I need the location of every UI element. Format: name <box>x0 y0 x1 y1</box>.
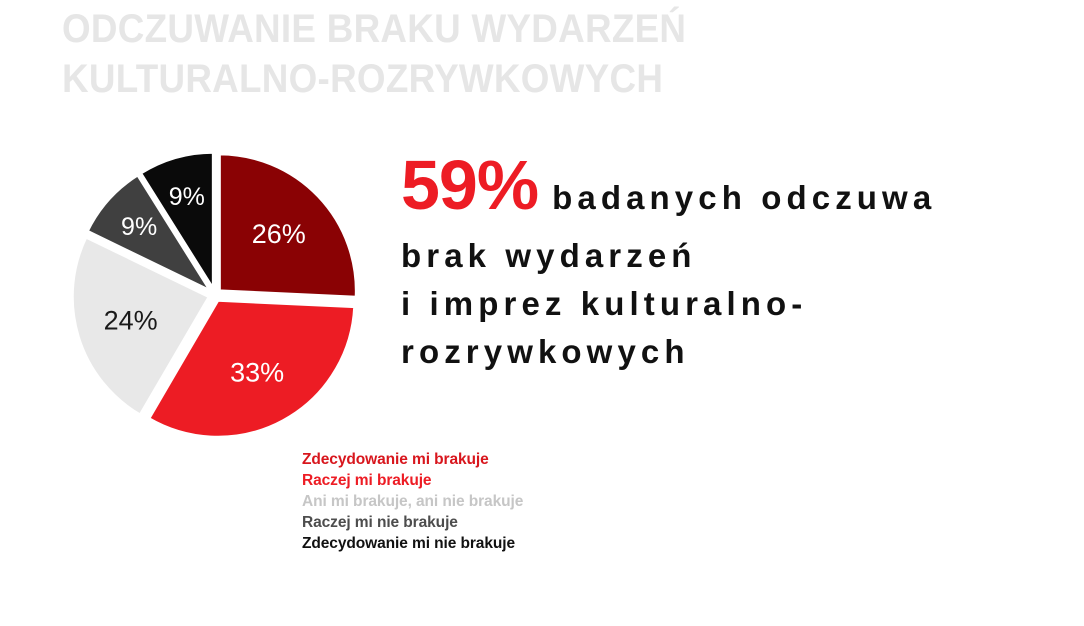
pie-slice-label: 26% <box>252 219 306 249</box>
pie-chart: 26%33%24%9%9% <box>60 140 390 450</box>
legend-item: Zdecydowanie mi brakuje <box>302 449 709 470</box>
pie-chart-svg: 26%33%24%9%9% <box>60 140 390 450</box>
pie-slice-label: 24% <box>104 306 158 336</box>
headline-line-4: rozrywkowych <box>401 328 1084 376</box>
page-title: ODCZUWANIE BRAKU WYDARZEŃ KULTURALNO-ROZ… <box>62 4 780 104</box>
headline-line-2: brak wydarzeń <box>401 232 1084 280</box>
chart-legend: Zdecydowanie mi brakujeRaczej mi brakuje… <box>302 449 722 554</box>
legend-item: Zdecydowanie mi nie brakuje <box>302 533 709 554</box>
headline-block: 59%badanych odczuwa brak wydarzeń i impr… <box>401 150 1084 376</box>
headline-line-1: 59%badanych odczuwa <box>401 150 1084 220</box>
headline-line-3: i imprez kulturalno- <box>401 280 1084 328</box>
headline-stat-suffix: badanych odczuwa <box>552 179 936 216</box>
pie-slice-label: 9% <box>121 213 157 241</box>
headline-stat-value: 59% <box>401 146 538 224</box>
legend-item: Raczej mi nie brakuje <box>302 512 709 533</box>
pie-slice-label: 9% <box>169 183 205 211</box>
pie-slice-label: 33% <box>230 358 284 388</box>
legend-item: Ani mi brakuje, ani nie brakuje <box>302 491 709 512</box>
legend-item: Raczej mi brakuje <box>302 470 709 491</box>
